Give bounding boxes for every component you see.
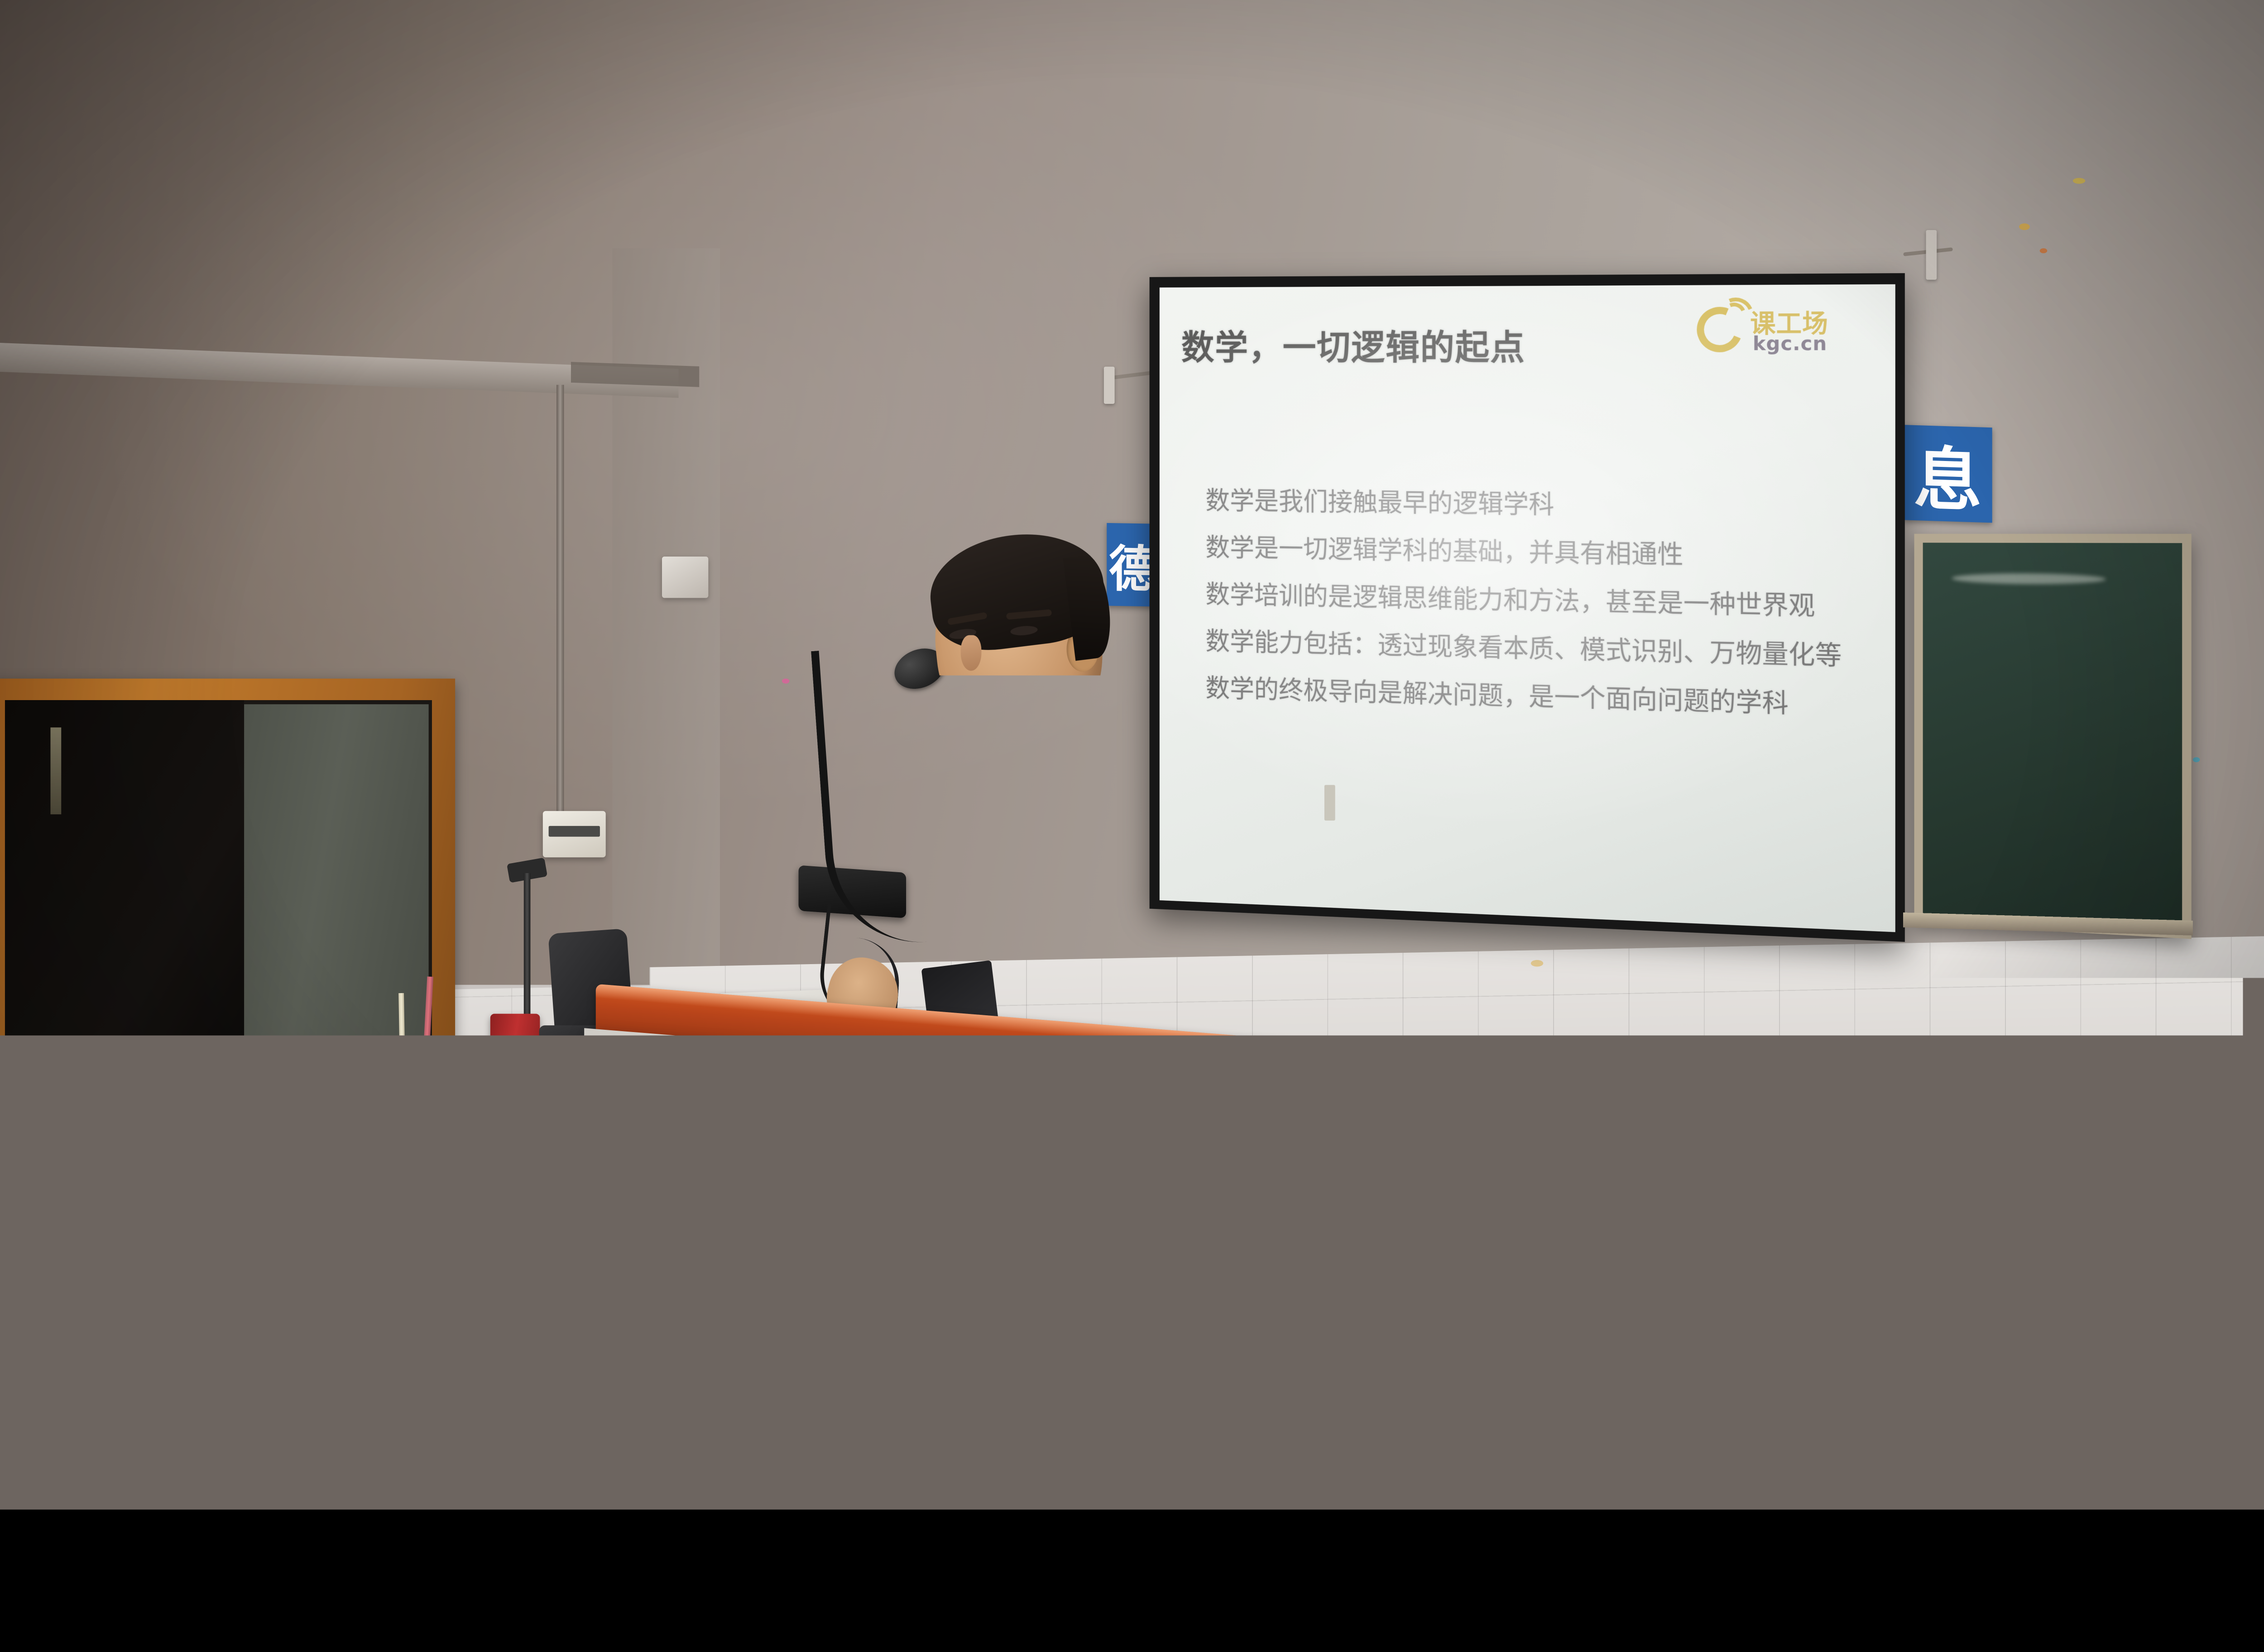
wall-junction-box [662, 557, 708, 598]
door-glass-glint [50, 727, 61, 814]
wall-pillar [612, 248, 720, 1013]
floor-light-knob [1832, 1150, 1850, 1168]
screen-mount-right [1926, 230, 1937, 280]
lectern-podium: 湖南科技学院 1941 · HUNAN UNIVERSITY OF SCIENC… [596, 1010, 1713, 1510]
emblem-bird-icon [1033, 1211, 1085, 1276]
flower-planter [2199, 1142, 2264, 1237]
podium-lock-icon[interactable] [1127, 1120, 1145, 1140]
extinguisher-label [494, 1063, 537, 1088]
speaker-nose [961, 635, 982, 671]
screen-mount-left [1104, 367, 1115, 404]
wall-conduit-pipe [556, 385, 564, 824]
slide-title: 数学，一切逻辑的起点 [1181, 320, 1525, 370]
bucket-label: 湖南科技 [296, 1100, 380, 1114]
planter-box [2199, 1184, 2264, 1237]
flower-blossom [2104, 1149, 2124, 1166]
podium-side-panel [1647, 1095, 1721, 1417]
kgc-brand-domain: kgc.cn [1753, 332, 1827, 355]
electrical-breaker-box [543, 811, 606, 857]
shirt-button [1014, 846, 1022, 854]
blackboard-slate [1923, 543, 2182, 929]
shirt-button [1014, 970, 1022, 978]
podium-vent-grille [683, 1426, 836, 1508]
shirt-button [1014, 908, 1022, 916]
paint-splatter [1531, 960, 1543, 967]
wall-sign-xi-text: 息 [1914, 423, 1982, 524]
paint-splatter [2019, 223, 2030, 230]
door-frame [0, 679, 455, 1155]
speaker-finger [1102, 772, 1126, 819]
floor-stage-light [1843, 1117, 1980, 1184]
flower-planter [2023, 1121, 2184, 1220]
door-handle[interactable] [1324, 785, 1335, 821]
flower-blossom [2237, 1148, 2260, 1167]
paint-splatter [2040, 248, 2047, 253]
speaker-person [861, 503, 1209, 1049]
doorway-dark-opening[interactable] [5, 700, 244, 1154]
flower-blossom [2058, 1129, 2082, 1150]
wall-sign-xi: 息 [1903, 425, 1992, 523]
paint-splatter [2073, 178, 2085, 184]
fire-extinguisher [490, 1014, 540, 1138]
blackboard [1914, 534, 2192, 939]
lecture-hall-scene: 德 息 课工场 kgc.cn 数学，一切逻辑的起点 数学是我们接触最早的逻辑学科… [0, 0, 2264, 1509]
paint-splatter [782, 679, 789, 684]
planter-box [2023, 1165, 2184, 1221]
kgc-logo: 课工场 kgc.cn [1691, 295, 1870, 359]
projection-screen: 课工场 kgc.cn 数学，一切逻辑的起点 数学是我们接触最早的逻辑学科 数学是… [1150, 273, 1905, 942]
slide-bullet-list: 数学是我们接触最早的逻辑学科 数学是一切逻辑学科的基础，并具有相通性 数学培训的… [1205, 477, 1878, 731]
paint-splatter [2193, 757, 2200, 762]
breaker-switch-row [549, 826, 600, 837]
slide-bullet: 数学是我们接触最早的逻辑学科 [1205, 477, 1878, 533]
chalk-smudge [1952, 573, 2106, 585]
projection-screen-surface: 课工场 kgc.cn 数学，一切逻辑的起点 数学是我们接触最早的逻辑学科 数学是… [1160, 284, 1895, 932]
university-emblem: 湖南科技学院 1941 · HUNAN UNIVERSITY OF SCIENC… [987, 1165, 1129, 1320]
floor-light-knob [1973, 1158, 1991, 1177]
